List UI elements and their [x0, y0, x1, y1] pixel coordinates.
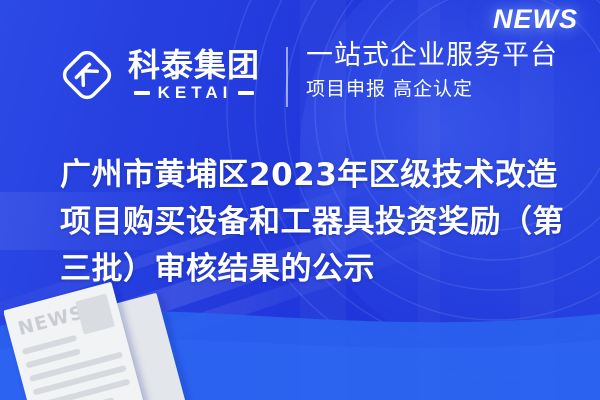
header-divider	[286, 47, 288, 107]
logo-company-en: KETAI	[158, 84, 233, 101]
logo-wordmark: 科泰集团 KETAI	[128, 49, 260, 102]
logo-dash-left	[134, 91, 150, 95]
logo-company-cn: 科泰集团	[128, 49, 260, 82]
news-corner-label: NEWS	[493, 4, 578, 35]
slogan-sub: 项目申报 高企认定	[306, 77, 558, 102]
logo-en-row: KETAI	[128, 84, 260, 101]
news-banner: 科泰集团 KETAI 一站式企业服务平台 项目申报 高企认定 NEWS 广州市黄…	[0, 0, 600, 400]
logo-dash-right	[238, 91, 254, 95]
newspaper-illustration: NEWS	[4, 264, 214, 400]
slogan-main: 一站式企业服务平台	[306, 40, 558, 73]
slogan-group: 一站式企业服务平台 项目申报 高企认定	[306, 40, 558, 102]
brand-header: 科泰集团 KETAI	[58, 42, 260, 108]
ketai-logo-icon	[58, 46, 116, 104]
